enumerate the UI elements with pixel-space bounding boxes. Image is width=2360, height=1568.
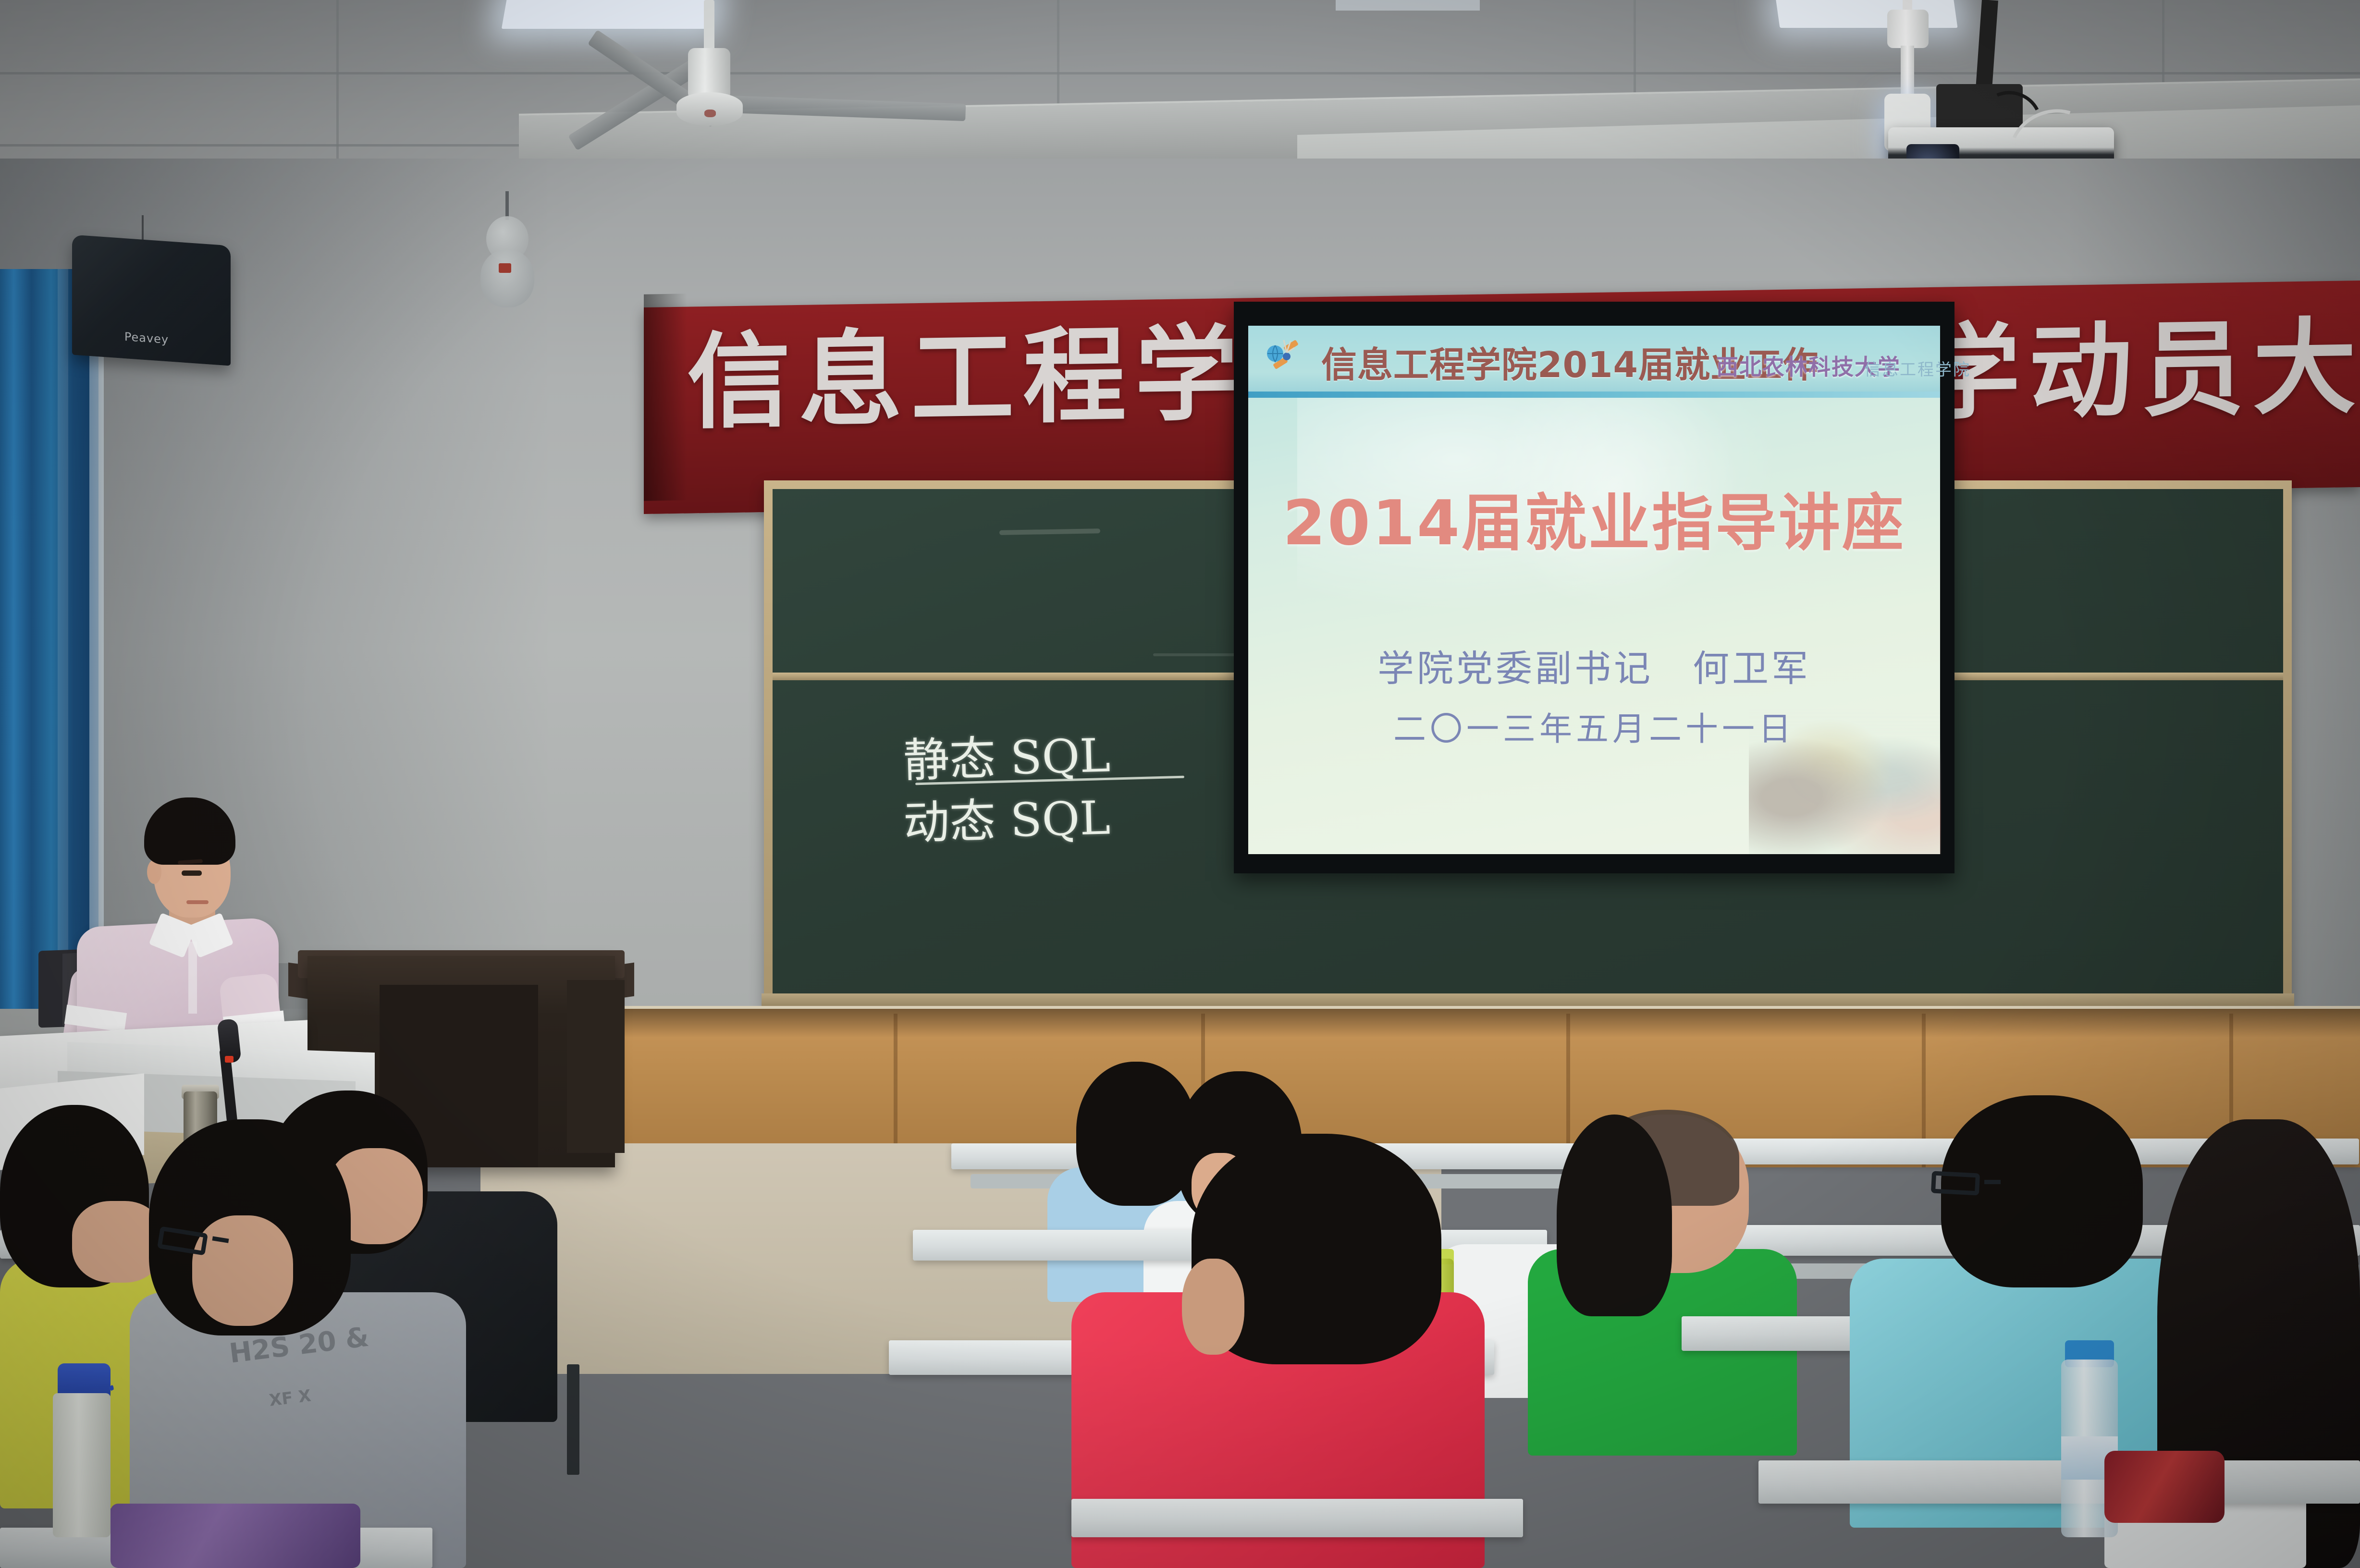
purple-backpack [111, 1504, 360, 1568]
wall-fan-led-icon [499, 263, 511, 273]
student-face [192, 1215, 293, 1326]
ceiling-tile-line [0, 72, 2360, 74]
satellite-globe-icon [1263, 337, 1307, 375]
slide-presenter: 学院党委副书记 何卫军 [1248, 639, 1940, 692]
slide-main-title: 2014届就业指导讲座 [1248, 473, 1940, 562]
ceiling-fan-hub [676, 92, 743, 126]
red-bag [2104, 1451, 2225, 1523]
student-desk [1758, 1460, 2360, 1504]
desk-leg [567, 1364, 579, 1475]
wall-fan-body [480, 250, 534, 307]
chalk-text-line-2: 动态 SQL [902, 780, 1111, 852]
banner-fold [644, 294, 687, 501]
presenter-shirt-placket [188, 942, 197, 1014]
slide-header-rule [1248, 392, 1940, 398]
presenter-mouth [186, 900, 209, 904]
cabinet-shadow [529, 1009, 2360, 1038]
slide-college-name: 信息工程学院 [1864, 356, 1971, 380]
wall-speaker [72, 234, 231, 366]
ceiling-light [1336, 0, 1480, 11]
ceiling-fan-rod [704, 0, 714, 53]
classroom-scene: Peavey 信息工程学院 学动员大会 静态 SQL 动态 SQL 信息工程学院… [0, 0, 2360, 1568]
slide-corner-photo [1749, 705, 1941, 854]
ceiling-light [502, 0, 714, 29]
student-ear [1182, 1259, 1244, 1355]
microphone-led-icon [225, 1056, 234, 1063]
wall-fan-rod [505, 191, 509, 220]
ceiling-lamp-housing [1887, 10, 1929, 48]
presenter-eye [182, 870, 202, 876]
podium-side [567, 980, 625, 1153]
student-desk [1071, 1499, 1523, 1537]
ceiling-fan-indicator [704, 110, 716, 117]
banner-text-right: 学动员大会 [1917, 314, 2360, 426]
ceiling-lamp-stem [1901, 46, 1914, 96]
student-hair [1557, 1115, 1672, 1316]
ceiling-light [1776, 0, 1958, 28]
